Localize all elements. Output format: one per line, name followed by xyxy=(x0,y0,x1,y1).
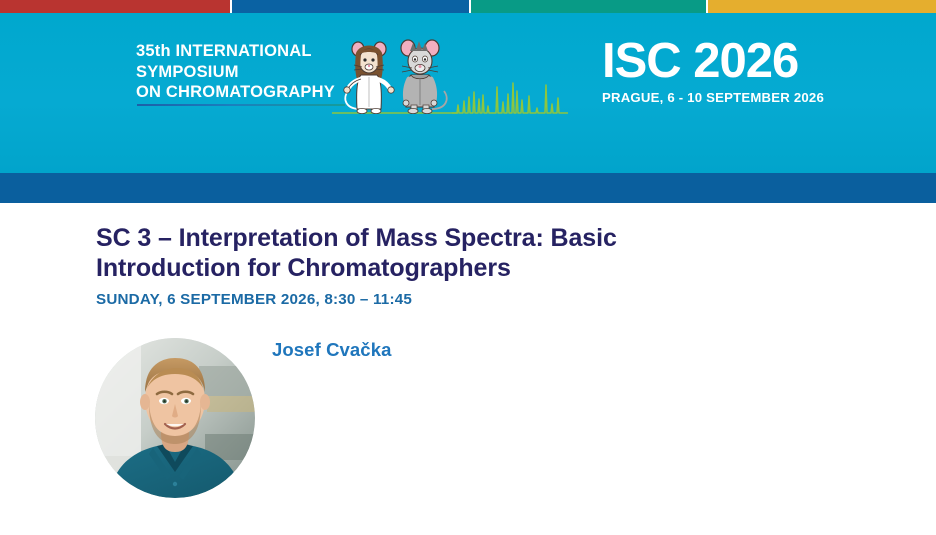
header-accent-band xyxy=(0,173,936,203)
isc-logo-block: ISC 2026 PRAGUE, 6 - 10 SEPTEMBER 2026 xyxy=(602,35,824,105)
conference-header-banner: 35th INTERNATIONAL SYMPOSIUM ON CHROMATO… xyxy=(0,13,936,173)
chromatogram-trace-icon xyxy=(452,75,568,115)
course-datetime: SUNDAY, 6 SEPTEMBER 2026, 8:30 – 11:45 xyxy=(96,291,412,308)
isc-logo-subtitle: PRAGUE, 6 - 10 SEPTEMBER 2026 xyxy=(602,90,824,105)
top-color-strip xyxy=(0,0,936,13)
course-title: SC 3 – Interpretation of Mass Spectra: B… xyxy=(96,223,736,283)
color-segment-yellow xyxy=(708,0,936,13)
isc-logo-main: ISC 2026 xyxy=(602,35,824,87)
color-segment-teal xyxy=(471,0,707,13)
color-segment-blue xyxy=(232,0,469,13)
speaker-avatar xyxy=(95,338,255,498)
mascot-female-mouse xyxy=(344,42,394,114)
header-divider-rule xyxy=(137,104,345,106)
speaker-name: Josef Cvačka xyxy=(272,339,391,361)
mascot-male-mouse xyxy=(401,40,447,114)
main-content: SC 3 – Interpretation of Mass Spectra: B… xyxy=(0,203,936,535)
mascot-mice-illustration xyxy=(332,29,458,121)
event-title: 35th INTERNATIONAL SYMPOSIUM ON CHROMATO… xyxy=(136,41,335,103)
color-segment-red xyxy=(0,0,230,13)
